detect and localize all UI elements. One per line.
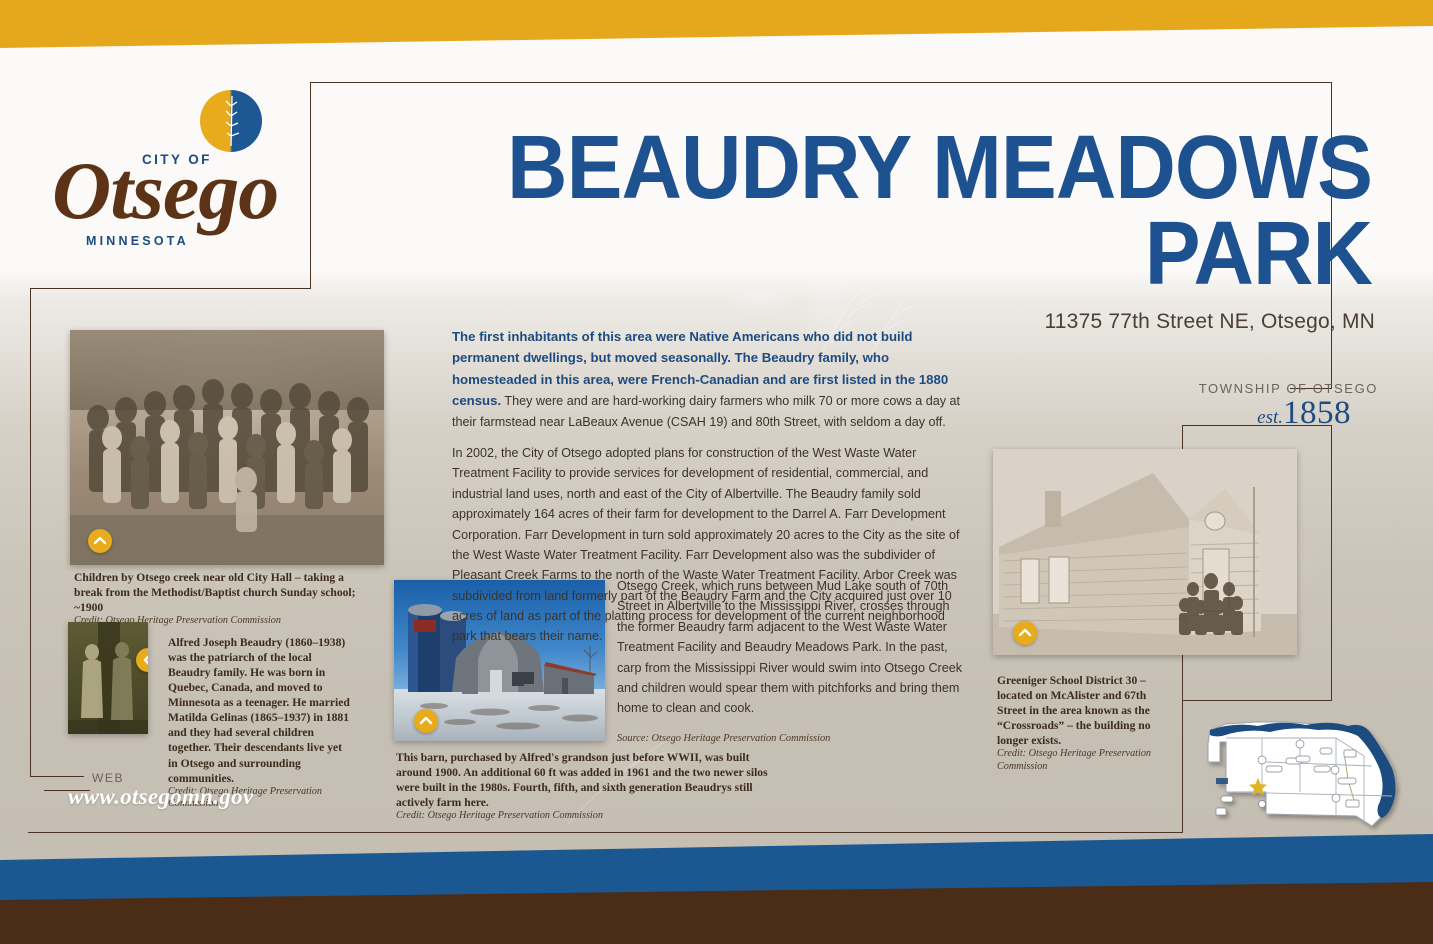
caption-barn-credit: Credit: Otsego Heritage Preservation Com… [396, 810, 768, 823]
creek-body-text: Otsego Creek, which runs between Mud Lak… [617, 576, 964, 748]
body-paragraph-1-rest: They were and are hard-working dairy far… [452, 394, 960, 428]
logo-state-label: MINNESOTA [86, 234, 189, 248]
city-locator-map [1196, 704, 1411, 834]
frame-line-vertical [1182, 700, 1183, 832]
frame-line-vertical [310, 82, 311, 288]
photo-prev-badge-icon[interactable] [136, 648, 148, 672]
web-label: WEB [92, 771, 124, 785]
caption-couple-text: Alfred Joseph Beaudry (1860–1938) was th… [168, 635, 350, 786]
map-graphic-icon [1196, 704, 1411, 834]
web-url[interactable]: www.otsegomn.gov [68, 784, 253, 810]
township-label: TOWNSHIP OF OTSEGO [1199, 381, 1378, 396]
caption-school: Greeniger School District 30 – located o… [997, 673, 1169, 774]
established-year: est.1858 [1257, 395, 1351, 432]
caption-school-credit: Credit: Otsego Heritage Preservation Com… [997, 748, 1169, 774]
caption-children-text: Children by Otsego creek near old City H… [74, 570, 374, 615]
photo-expand-badge-icon[interactable] [414, 709, 438, 733]
established-prefix: est. [1257, 407, 1283, 428]
frame-line-vertical [30, 288, 31, 776]
city-logo: CITY OF Otsego MINNESOTA [52, 90, 302, 265]
established-year-value: 1858 [1283, 395, 1351, 431]
park-address: 11375 77th Street NE, Otsego, MN [1044, 310, 1375, 334]
frame-line-horizontal [28, 832, 1183, 833]
photo-expand-badge-icon[interactable] [88, 529, 112, 553]
frame-line-horizontal [310, 82, 1332, 83]
page-title-line1: BEAUDRY MEADOWS [442, 126, 1372, 212]
caption-school-text: Greeniger School District 30 – located o… [997, 673, 1169, 748]
photo-greeniger-school [993, 449, 1297, 655]
caption-barn-text: This barn, purchased by Alfred's grandso… [396, 750, 768, 810]
creek-source-credit: Source: Otsego Heritage Preservation Com… [617, 731, 964, 748]
page-title-line2: PARK [442, 212, 1372, 298]
photo-children-by-creek [70, 330, 384, 565]
photo-expand-badge-icon[interactable] [1013, 621, 1037, 645]
frame-line-horizontal [30, 288, 311, 289]
frame-line-horizontal [1182, 700, 1332, 701]
body-paragraph-1: The first inhabitants of this area were … [452, 326, 964, 432]
frame-line-vertical [1331, 425, 1332, 700]
park-interpretive-sign: CITY OF Otsego MINNESOTA BEAUDRY MEADOWS… [0, 0, 1433, 944]
logo-wordmark: Otsego [52, 150, 278, 232]
caption-children: Children by Otsego creek near old City H… [74, 570, 374, 628]
photo-alfred-and-matilda [68, 622, 148, 734]
creek-paragraph: Otsego Creek, which runs between Mud Lak… [617, 576, 964, 719]
page-title: BEAUDRY MEADOWS PARK [442, 126, 1372, 297]
otsego-logo-mark-icon [200, 90, 262, 152]
frame-line-horizontal [30, 776, 84, 777]
caption-barn: This barn, purchased by Alfred's grandso… [396, 750, 768, 823]
